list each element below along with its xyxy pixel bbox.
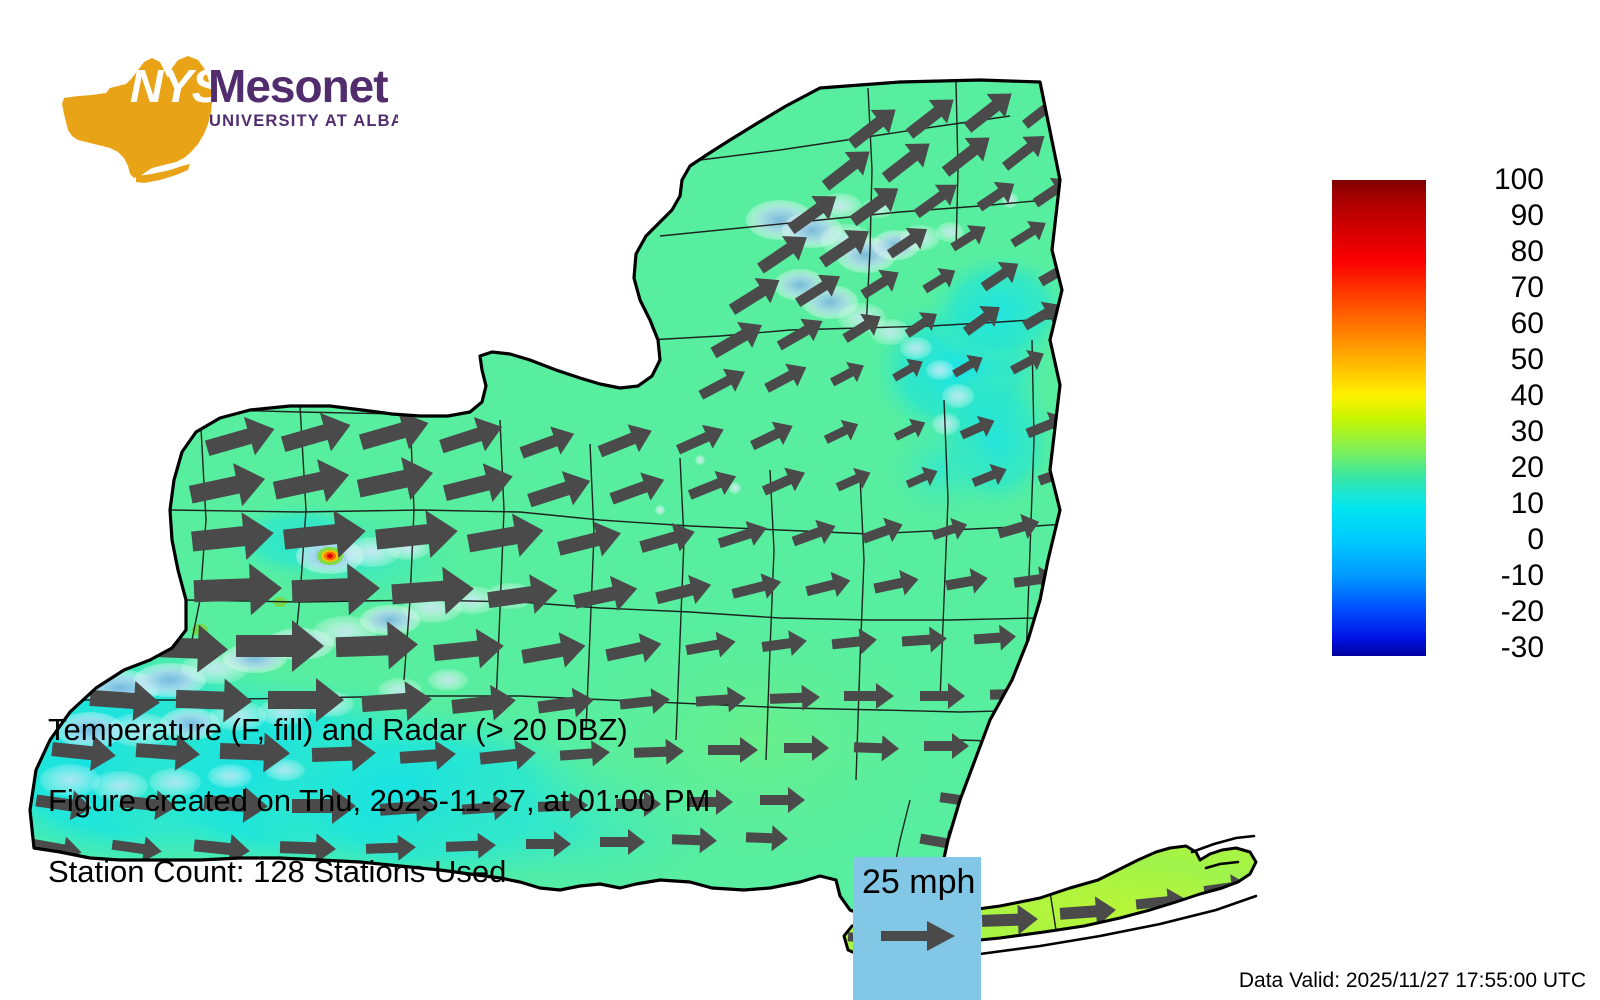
caption-title: Temperature (F, fill) and Radar (> 20 DB… xyxy=(48,714,828,745)
colorbar-tick-neg30: -30 xyxy=(1432,633,1544,663)
colorbar-tick-10: 10 xyxy=(1432,489,1544,519)
colorbar-tick-labels: 100 90 80 70 60 50 40 30 20 10 0 -10 -20… xyxy=(1432,158,1562,678)
colorbar-tick-30: 30 xyxy=(1432,417,1544,447)
colorbar-gradient xyxy=(1332,180,1426,656)
colorbar-tick-40: 40 xyxy=(1432,381,1544,411)
colorbar-tick-90: 90 xyxy=(1432,201,1544,231)
colorbar-tick-100: 100 xyxy=(1432,165,1544,195)
colorbar-tick-50: 50 xyxy=(1432,345,1544,375)
data-valid-timestamp: Data Valid: 2025/11/27 17:55:00 UTC xyxy=(1239,970,1586,992)
caption-created: Figure created on Thu, 2025-11-27, at 01… xyxy=(48,785,828,816)
wind-speed-reference-key: 25 mph xyxy=(853,857,981,1000)
colorbar-tick-neg20: -20 xyxy=(1432,597,1544,627)
weather-map-figure: NYS Mesonet UNIVERSITY AT ALBANY xyxy=(0,0,1600,1000)
wind-key-label: 25 mph xyxy=(862,865,975,899)
colorbar-tick-60: 60 xyxy=(1432,309,1544,339)
wind-arrow-icon xyxy=(879,919,957,953)
temperature-colorbar: 100 90 80 70 60 50 40 30 20 10 0 -10 -20… xyxy=(1332,180,1426,656)
figure-caption: Temperature (F, fill) and Radar (> 20 DB… xyxy=(48,714,828,927)
caption-station-count: Station Count: 128 Stations Used xyxy=(48,856,828,887)
colorbar-tick-20: 20 xyxy=(1432,453,1544,483)
colorbar-tick-70: 70 xyxy=(1432,273,1544,303)
colorbar-tick-neg10: -10 xyxy=(1432,561,1544,591)
colorbar-tick-80: 80 xyxy=(1432,237,1544,267)
colorbar-tick-0: 0 xyxy=(1432,525,1544,555)
